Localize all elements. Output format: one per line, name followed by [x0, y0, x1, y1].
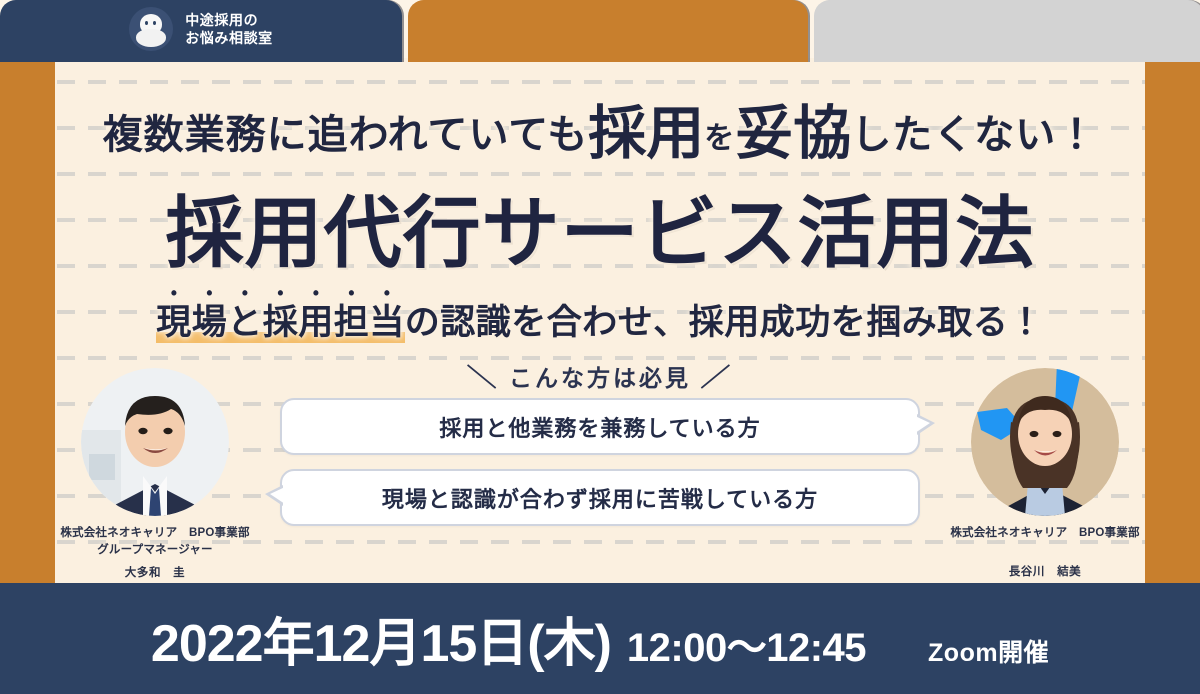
tab-main-content: 中途採用の お悩み相談室 [0, 0, 402, 58]
kicker-text-2: したくない！ [851, 113, 1097, 157]
avatar [971, 368, 1119, 516]
kicker-emphasis-2: 妥協 [735, 101, 851, 166]
page-title: 採用代行サービス活用法 [55, 171, 1145, 283]
bubble-label-1: 採用と他業務を兼務している方 [439, 411, 760, 443]
speaker-right-name: 長谷川 結美 [930, 563, 1145, 579]
tab-orange[interactable] [408, 0, 808, 62]
footer-content: 2022年12月15日(木) 12:00〜12:45 Zoom開催 [151, 601, 1049, 676]
slash-left-icon: ＼ [453, 358, 513, 394]
kicker-text-1: 複数業務に追われていても [103, 113, 589, 157]
webinar-banner: 中途採用の お悩み相談室 複数業務に追われていても採用を妥協したくない！ [0, 0, 1200, 694]
subtitle-highlighted: 現場と採用担当 [156, 303, 405, 343]
mascot-eye-left [145, 21, 148, 25]
subtitle-line: 現場と採用担当の認識を合わせ、採用成功を掴み取る！ [55, 283, 1145, 345]
speaker-right-spacer [930, 542, 1145, 559]
owl-mascot-icon [129, 7, 173, 51]
bubble-label-2: 現場と認識が合わず採用に苦戦している方 [382, 482, 818, 514]
tab-main-label: 中途採用の お悩み相談室 [185, 11, 273, 48]
kicker-emphasis-1: 採用 [588, 101, 704, 166]
tab-gray[interactable] [814, 0, 1200, 62]
speaker-right-company: 株式会社ネオキャリア BPO事業部 [930, 525, 1145, 542]
event-footer-bar: 2022年12月15日(木) 12:00〜12:45 Zoom開催 [0, 583, 1200, 694]
kicker-particle: を [704, 122, 735, 155]
slash-right-icon: ／ [687, 358, 747, 394]
tab-main[interactable]: 中途採用の お悩み相談室 [0, 0, 402, 62]
speaker-left: 株式会社ネオキャリア BPO事業部 グループマネージャー 大多和 圭 [55, 368, 270, 580]
event-date: 2022年12月15日(木) [151, 601, 611, 676]
kicker-line: 複数業務に追われていても採用を妥協したくない！ [55, 86, 1145, 170]
audience-bubble-list: 採用と他業務を兼務している方 現場と認識が合わず採用に苦戦している方 [280, 398, 920, 540]
avatar [81, 368, 229, 516]
speaker-left-name: 大多和 圭 [55, 564, 270, 580]
subtitle-rest: の認識を合わせ、採用成功を掴み取る！ [405, 303, 1044, 342]
list-item: 採用と他業務を兼務している方 [280, 398, 920, 455]
speaker-left-company: 株式会社ネオキャリア BPO事業部 [55, 525, 270, 542]
content-sheet: 複数業務に追われていても採用を妥協したくない！ 採用代行サービス活用法 現場と採… [55, 58, 1145, 583]
speaker-right: 株式会社ネオキャリア BPO事業部 長谷川 結美 [930, 368, 1145, 579]
content-area: 複数業務に追われていても採用を妥協したくない！ 採用代行サービス活用法 現場と採… [55, 58, 1145, 583]
speaker-left-title: グループマネージャー [55, 542, 270, 559]
tab-bar: 中途採用の お悩み相談室 [0, 0, 1200, 58]
mascot-eye-right [153, 21, 156, 25]
audience-heading-label: こんな方は必見 [509, 365, 691, 391]
list-item: 現場と認識が合わず採用に苦戦している方 [280, 469, 920, 526]
event-time: 12:00〜12:45 [627, 615, 866, 673]
event-platform: Zoom開催 [928, 633, 1049, 669]
